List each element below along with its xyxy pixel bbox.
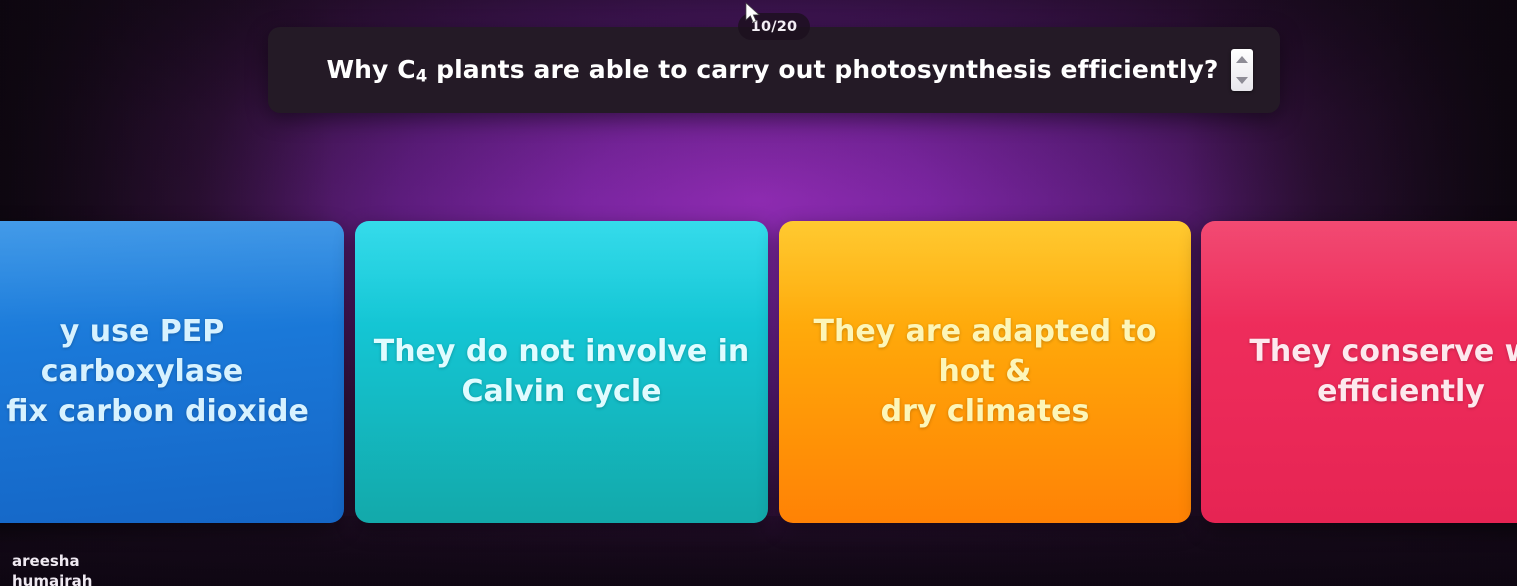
quiz-screen: 10/20 Why C4 plants are able to carry ou… (0, 0, 1517, 586)
question-text-prefix: Why C (326, 55, 415, 84)
card-gloss-a (0, 221, 344, 324)
answer-card-b[interactable]: They do not involve in Calvin cycle (355, 221, 768, 523)
card-gloss-c (779, 221, 1191, 324)
question-subscript: 4 (416, 66, 428, 85)
player-name: areesha humairah (12, 552, 92, 586)
question-text-suffix: plants are able to carry out photosynthe… (427, 55, 1218, 84)
answer-options: y use PEP carboxylase o fix carbon dioxi… (0, 221, 1517, 523)
chevron-down-icon[interactable] (1236, 77, 1248, 84)
answer-label-c: They are adapted to hot & dry climates (779, 312, 1191, 432)
answer-label-a: y use PEP carboxylase o fix carbon dioxi… (0, 312, 344, 432)
background-bottom-band (0, 516, 1517, 586)
answer-card-a[interactable]: y use PEP carboxylase o fix carbon dioxi… (0, 221, 344, 523)
card-gloss-b (355, 221, 768, 324)
answer-card-c[interactable]: They are adapted to hot & dry climates (779, 221, 1191, 523)
answer-label-d: They conserve wa efficiently (1201, 332, 1517, 412)
stepper-button[interactable] (1231, 49, 1253, 91)
answer-label-b: They do not involve in Calvin cycle (355, 332, 768, 412)
chevron-up-icon[interactable] (1236, 56, 1248, 63)
card-gloss-d (1201, 221, 1517, 324)
answer-card-d[interactable]: They conserve wa efficiently (1201, 221, 1517, 523)
progress-counter: 10/20 (738, 13, 810, 40)
question-text: Why C4 plants are able to carry out phot… (268, 55, 1231, 86)
